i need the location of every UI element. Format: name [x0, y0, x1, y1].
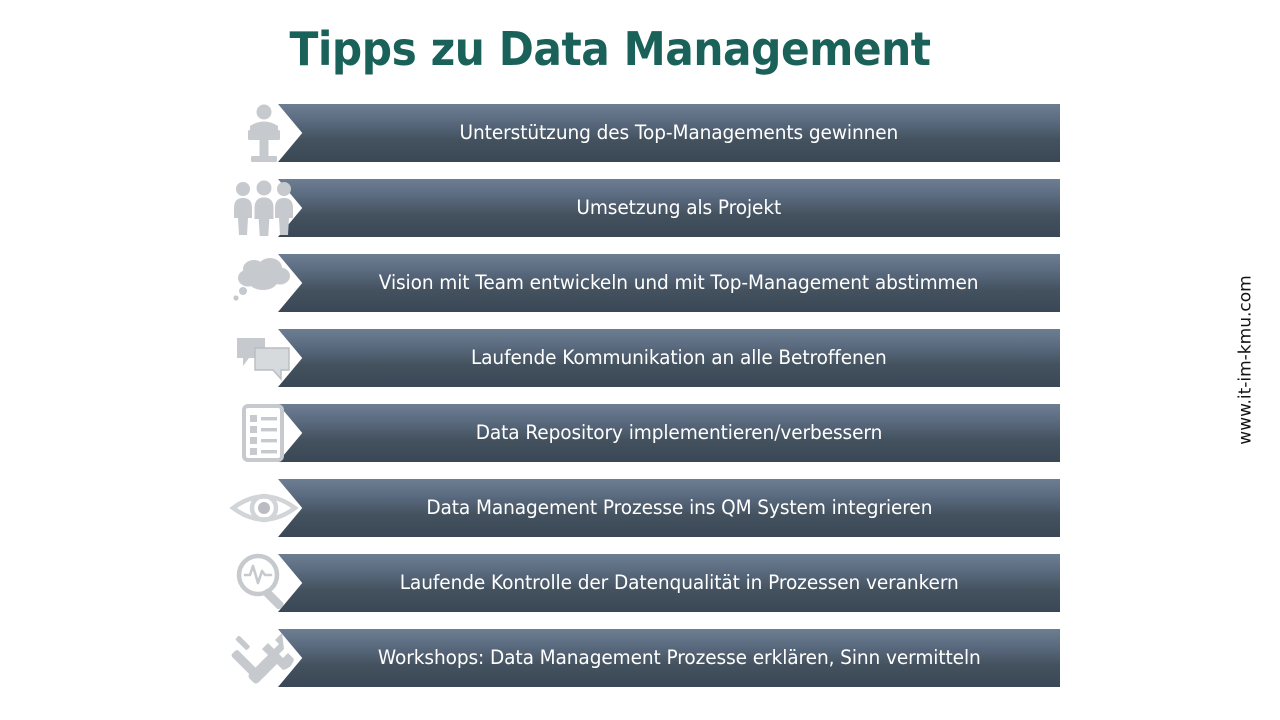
- chevron-label: Workshops: Data Management Prozesse erkl…: [378, 648, 981, 668]
- list-item[interactable]: Umsetzung als Projekt: [0, 179, 1280, 237]
- list-item[interactable]: Laufende Kommunikation an alle Betroffen…: [0, 329, 1280, 387]
- page-title: Tipps zu Data Management: [49, 22, 1171, 76]
- chevron-label: Vision mit Team entwickeln und mit Top-M…: [379, 273, 979, 293]
- chevron-label: Umsetzung als Projekt: [577, 198, 782, 218]
- chevron-label: Laufende Kommunikation an alle Betroffen…: [471, 348, 887, 368]
- list-item[interactable]: Vision mit Team entwickeln und mit Top-M…: [0, 254, 1280, 312]
- chevron-bar[interactable]: Laufende Kontrolle der Datenqualität in …: [278, 554, 1060, 612]
- chevron-bar[interactable]: Laufende Kommunikation an alle Betroffen…: [278, 329, 1060, 387]
- chevron-bar[interactable]: Vision mit Team entwickeln und mit Top-M…: [278, 254, 1060, 312]
- chevron-bar[interactable]: Workshops: Data Management Prozesse erkl…: [278, 629, 1060, 687]
- tips-chevron-list: Unterstützung des Top-Managements gewinn…: [0, 104, 1280, 704]
- list-item[interactable]: Data Repository implementieren/verbesser…: [0, 404, 1280, 462]
- list-item[interactable]: Workshops: Data Management Prozesse erkl…: [0, 629, 1280, 687]
- chevron-label: Laufende Kontrolle der Datenqualität in …: [400, 573, 959, 593]
- list-item[interactable]: Data Management Prozesse ins QM System i…: [0, 479, 1280, 537]
- chevron-label: Unterstützung des Top-Managements gewinn…: [460, 123, 899, 143]
- chevron-bar[interactable]: Umsetzung als Projekt: [278, 179, 1060, 237]
- website-text: www.it-im-kmu.com: [1236, 275, 1256, 444]
- list-item[interactable]: Unterstützung des Top-Managements gewinn…: [0, 104, 1280, 162]
- chevron-label: Data Management Prozesse ins QM System i…: [426, 498, 932, 518]
- list-item[interactable]: Laufende Kontrolle der Datenqualität in …: [0, 554, 1280, 612]
- chevron-bar[interactable]: Data Management Prozesse ins QM System i…: [278, 479, 1060, 537]
- chevron-bar[interactable]: Unterstützung des Top-Managements gewinn…: [278, 104, 1060, 162]
- chevron-label: Data Repository implementieren/verbesser…: [476, 423, 883, 443]
- chevron-bar[interactable]: Data Repository implementieren/verbesser…: [278, 404, 1060, 462]
- website-watermark: www.it-im-kmu.com: [1224, 0, 1268, 720]
